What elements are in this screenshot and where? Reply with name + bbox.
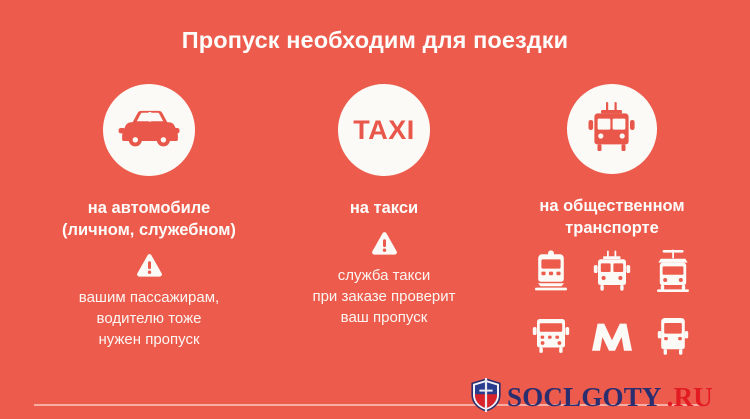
public-heading: на общественном транспорте (488, 195, 736, 239)
warning-triangle-icon (371, 231, 398, 261)
car-icon (118, 108, 180, 153)
car-heading: на автомобиле (личном, служебном) (18, 197, 280, 241)
warning-triangle-icon (136, 253, 163, 283)
metro-icon (591, 321, 633, 358)
transport-icon-cell (650, 317, 696, 361)
shield-emblem-icon (470, 378, 502, 417)
transport-icon-cell (650, 251, 696, 295)
taxi-body-text: служба такси при заказе проверит ваш про… (288, 265, 480, 328)
transport-icon-cell (589, 251, 635, 295)
trolleybus-circle (567, 84, 657, 174)
car-body-text: вашим пассажирам, водителю тоже нужен пр… (18, 287, 280, 350)
column-taxi: TAXI на такси служба такси при заказе пр… (288, 84, 480, 328)
transport-icon-cell (528, 317, 574, 361)
column-public-transport: на общественном транспорте (488, 84, 736, 361)
transport-icon-grid (520, 251, 704, 361)
car-circle (103, 84, 195, 176)
column-car: на автомобиле (личном, служебном) вашим … (18, 84, 280, 350)
tram-icon (654, 249, 692, 298)
trolleybus-icon (593, 250, 631, 297)
watermark-name: SOCLGOTY (507, 382, 662, 413)
bus-icon (532, 318, 570, 361)
transport-icon-cell (528, 251, 574, 295)
trolleybus-icon (587, 101, 637, 158)
taxi-circle: TAXI (338, 84, 430, 176)
taxi-heading: на такси (288, 197, 480, 219)
watermark-tld: .RU (667, 382, 713, 413)
infographic-poster: Пропуск необходим для поездки (0, 0, 750, 419)
taxi-warning (288, 233, 480, 259)
page-title: Пропуск необходим для поездки (0, 26, 750, 54)
site-watermark[interactable]: SOCLGOTY .RU (470, 379, 713, 415)
car-warning (18, 255, 280, 281)
taxi-word-icon: TAXI (353, 115, 415, 146)
train-icon (533, 250, 569, 297)
minibus-icon (655, 317, 691, 362)
transport-icon-cell (589, 317, 635, 361)
